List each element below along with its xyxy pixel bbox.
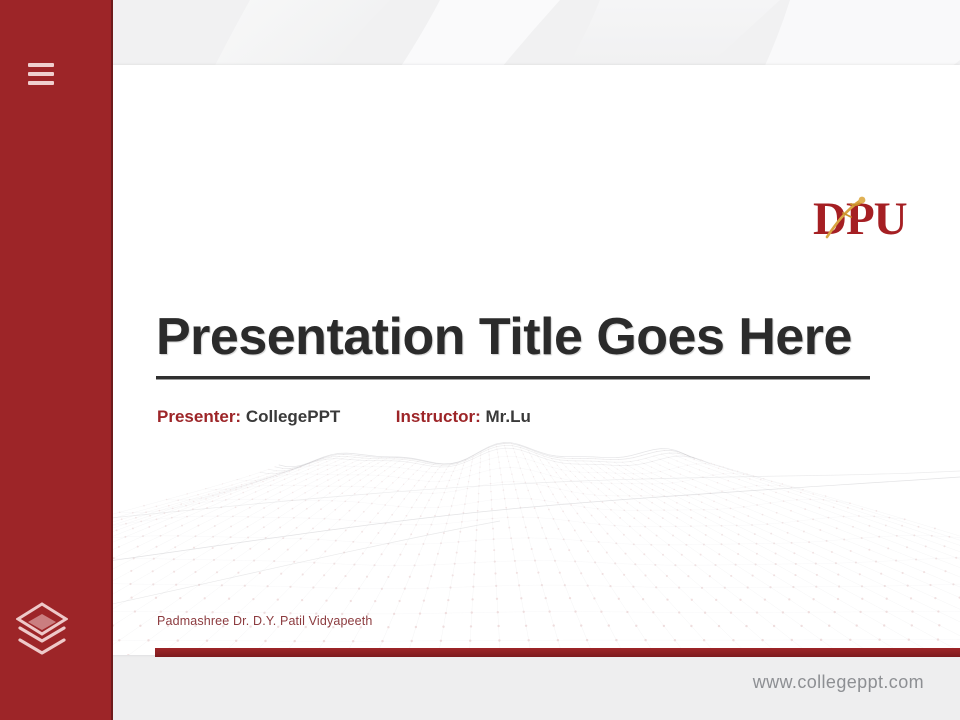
layers-stack-icon[interactable] bbox=[16, 600, 68, 658]
hamburger-bar-3 bbox=[28, 81, 54, 85]
instructor-value: Mr.Lu bbox=[486, 407, 531, 426]
hamburger-bar-2 bbox=[28, 72, 54, 76]
page-title: Presentation Title Goes Here bbox=[156, 308, 872, 366]
slide-viewer: DPU Presentation Title Goes Here Present… bbox=[0, 0, 960, 720]
gold-swoosh-icon bbox=[821, 195, 873, 243]
credits-line: Presenter: CollegePPT Instructor: Mr.Lu bbox=[157, 406, 531, 428]
presenter-label: Presenter: bbox=[157, 407, 241, 426]
presenter-value: CollegePPT bbox=[246, 407, 340, 426]
footer-accent-bar bbox=[155, 648, 960, 657]
left-sidebar bbox=[0, 0, 113, 720]
hamburger-menu-icon[interactable] bbox=[28, 63, 54, 85]
dpu-logo: DPU bbox=[813, 193, 923, 245]
footer-url: www.collegeppt.com bbox=[753, 672, 924, 693]
title-block: Presentation Title Goes Here bbox=[156, 308, 872, 380]
slide-canvas: DPU Presentation Title Goes Here Present… bbox=[80, 65, 960, 655]
title-underline bbox=[156, 376, 870, 380]
institution-name: Padmashree Dr. D.Y. Patil Vidyapeeth bbox=[157, 614, 372, 628]
hamburger-bar-1 bbox=[28, 63, 54, 67]
instructor-label: Instructor: bbox=[396, 407, 481, 426]
